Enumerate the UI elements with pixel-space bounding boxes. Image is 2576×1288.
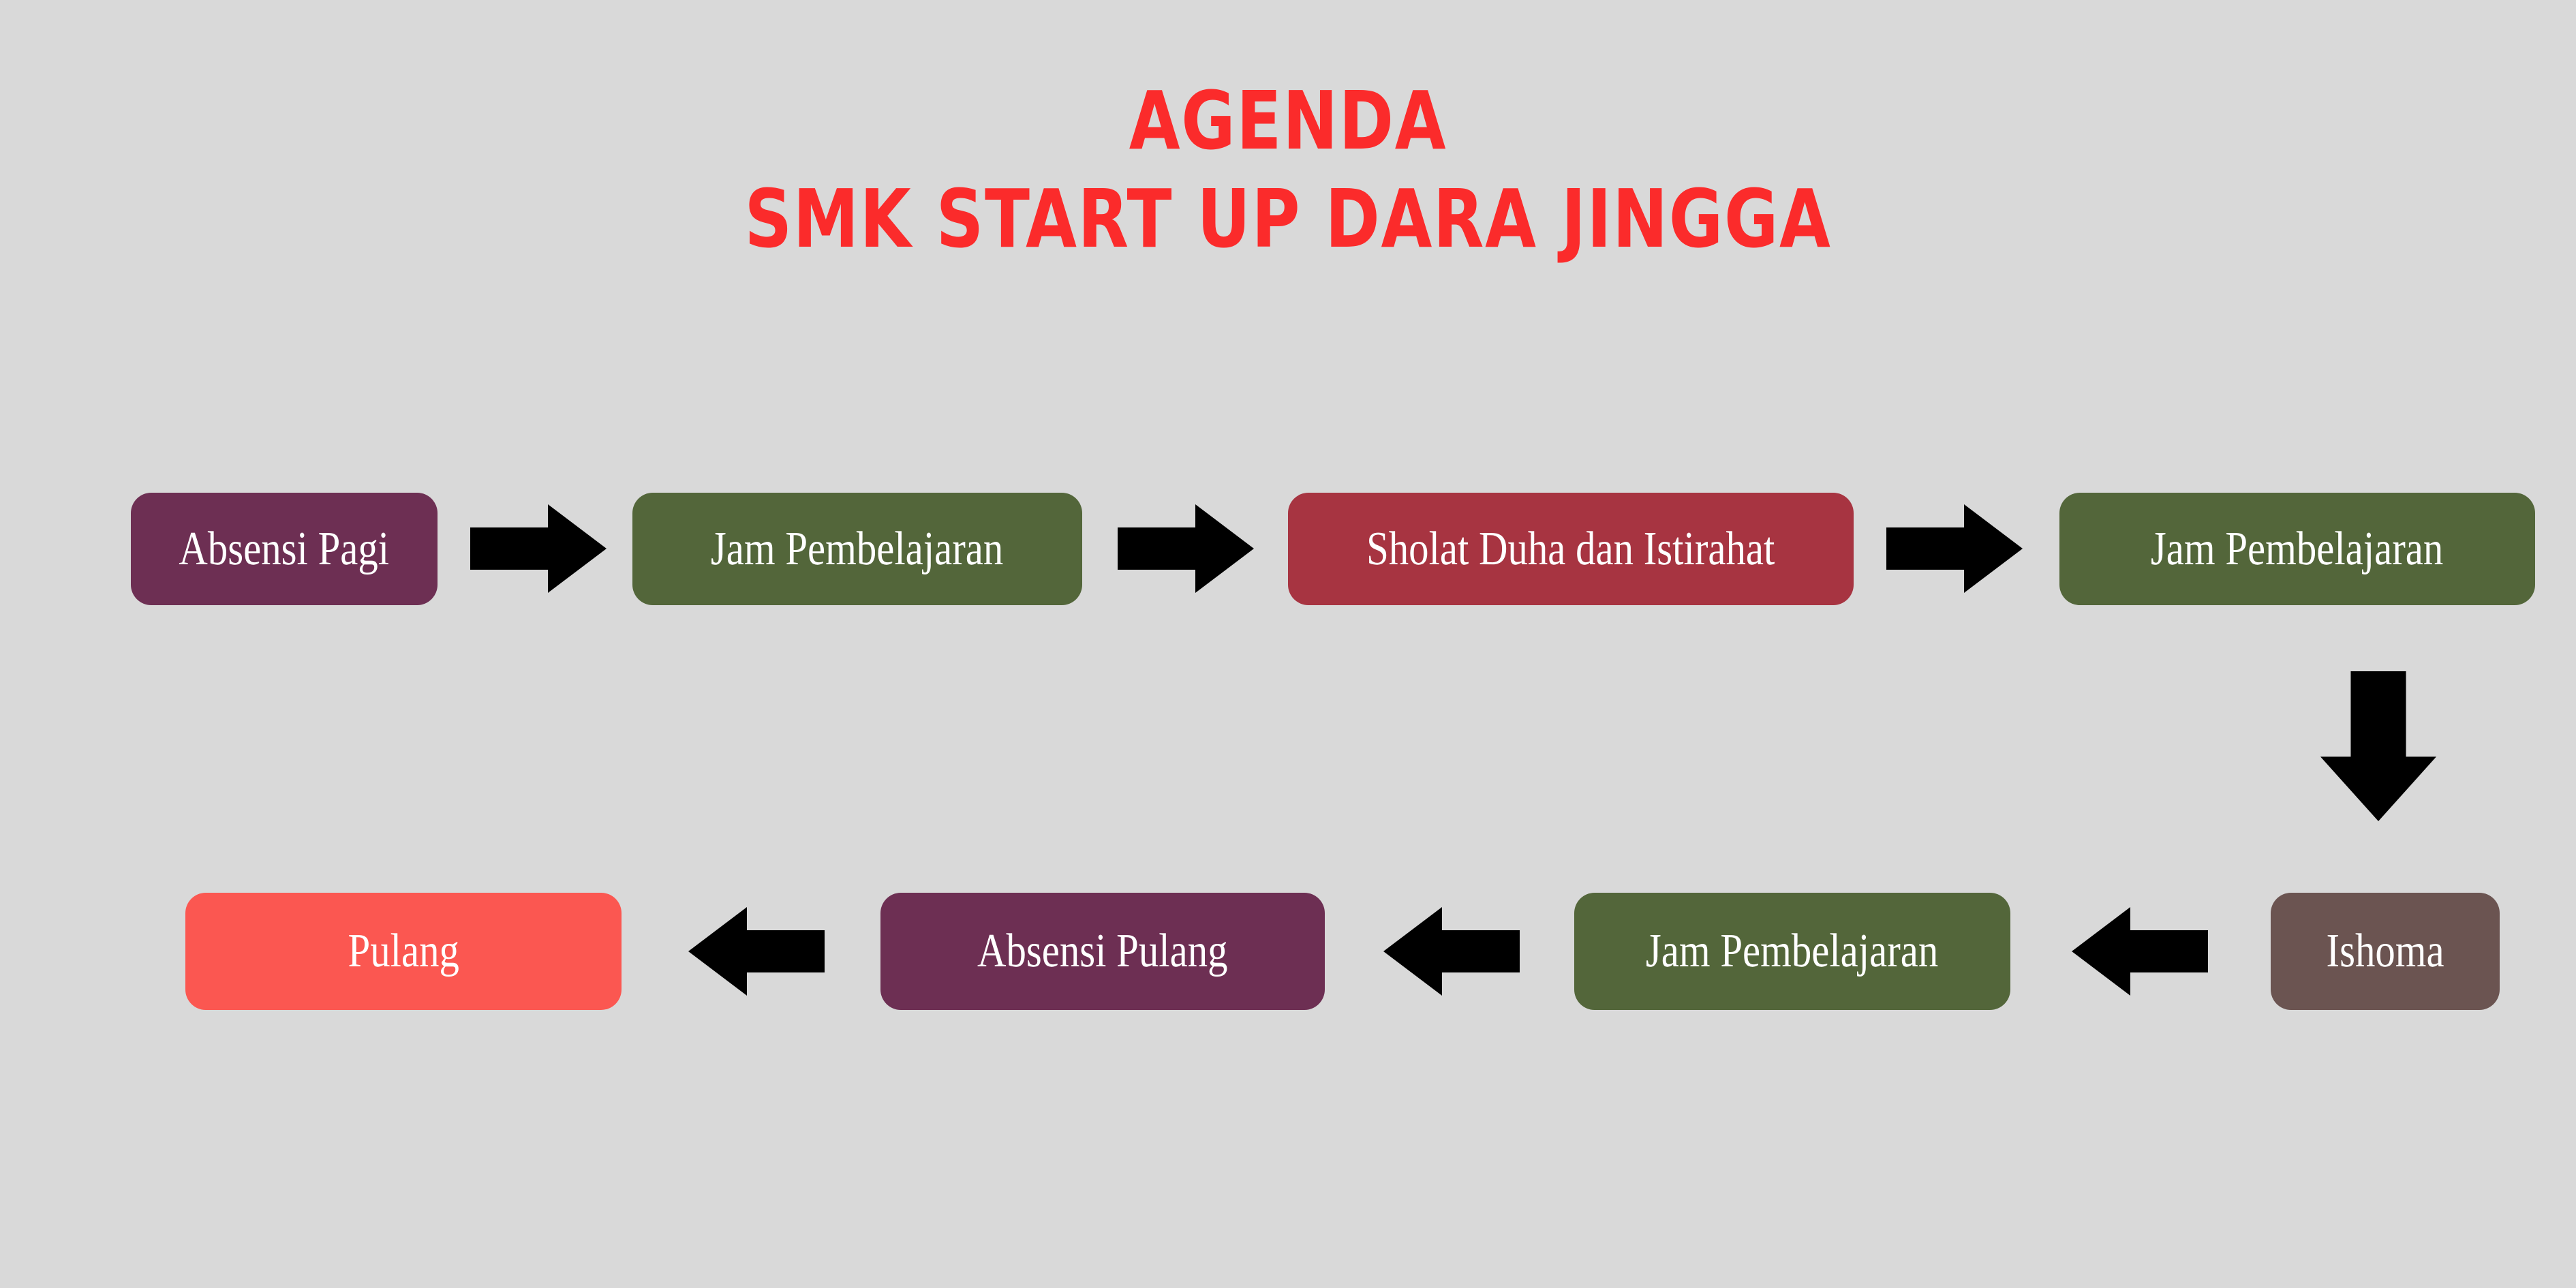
title-line-agenda: AGENDA (232, 80, 2344, 161)
node-absensi-pagi[interactable]: Absensi Pagi (131, 493, 438, 605)
node-label: Absensi Pulang (977, 927, 1228, 975)
arrow-left-icon (688, 907, 825, 996)
title-line-school: SMK START UP DARA JINGGA (232, 179, 2344, 259)
node-absensi-pulang[interactable]: Absensi Pulang (880, 893, 1325, 1010)
node-label: Ishoma (2326, 927, 2444, 975)
node-label: Jam Pembelajaran (1646, 927, 1938, 975)
arrow-right-icon (1118, 504, 1254, 593)
arrow-left-icon (2072, 907, 2208, 996)
node-jam-pembelajaran-1[interactable]: Jam Pembelajaran (632, 493, 1082, 605)
node-label: Jam Pembelajaran (2151, 525, 2443, 573)
arrow-right-glyph (1886, 504, 2023, 593)
node-ishoma[interactable]: Ishoma (2271, 893, 2500, 1010)
diagram-canvas: AGENDA SMK START UP DARA JINGGA Absensi … (0, 0, 2576, 1288)
node-jam-pembelajaran-3[interactable]: Jam Pembelajaran (1574, 893, 2010, 1010)
arrow-right-icon (470, 504, 607, 593)
node-label: Sholat Duha dan Istirahat (1366, 525, 1775, 573)
arrow-right-glyph (470, 504, 607, 593)
arrow-left-glyph (688, 907, 825, 996)
node-sholat-duha-dan-istirahat[interactable]: Sholat Duha dan Istirahat (1288, 493, 1854, 605)
arrow-down-icon (2320, 671, 2436, 821)
node-label: Absensi Pagi (179, 525, 390, 573)
page-title: AGENDA SMK START UP DARA JINGGA (0, 80, 2576, 259)
arrow-right-glyph (1118, 504, 1254, 593)
arrow-left-glyph (1383, 907, 1520, 996)
arrow-down-glyph (2320, 671, 2436, 821)
arrow-left-icon (1383, 907, 1520, 996)
arrow-left-glyph (2072, 907, 2208, 996)
node-pulang[interactable]: Pulang (185, 893, 622, 1010)
node-jam-pembelajaran-2[interactable]: Jam Pembelajaran (2059, 493, 2535, 605)
node-label: Pulang (348, 927, 459, 975)
arrow-right-icon (1886, 504, 2023, 593)
node-label: Jam Pembelajaran (711, 525, 1003, 573)
